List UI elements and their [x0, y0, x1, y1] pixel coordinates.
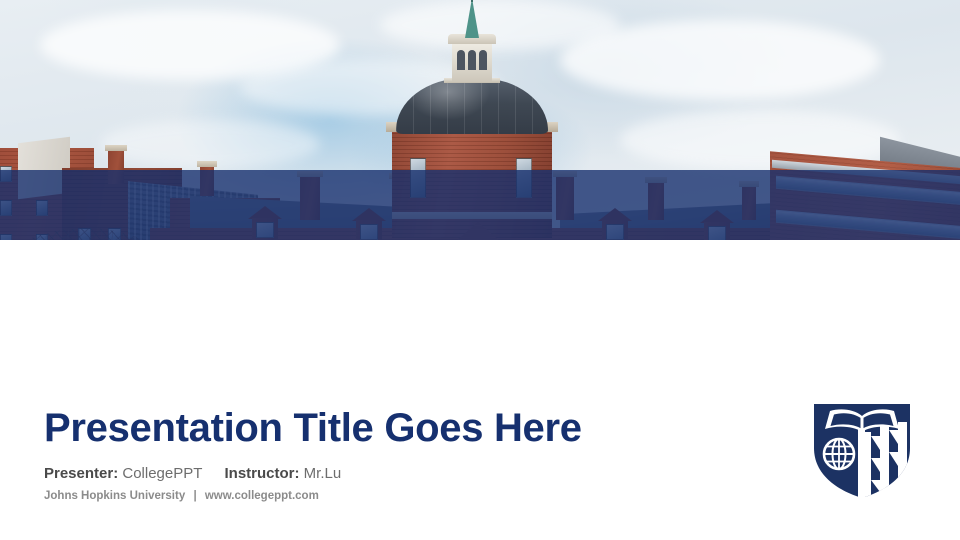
presenter-label: Presenter: [44, 465, 118, 482]
shield-pale [858, 426, 865, 500]
shield-icon [806, 392, 918, 504]
johns-hopkins-shield-logo [806, 392, 918, 504]
maryland-pattern [862, 422, 907, 502]
title-text-block: Presentation Title Goes Here Presenter: … [44, 405, 744, 502]
credit-line: Johns Hopkins University | www.collegepp… [44, 490, 744, 502]
presenter-name: CollegePPT [122, 465, 202, 482]
chimney [300, 176, 320, 220]
university-name: Johns Hopkins University [44, 490, 185, 502]
presenter-instructor-line: Presenter: CollegePPT Instructor: Mr.Lu [44, 465, 744, 482]
spire-finial [471, 0, 473, 2]
chimney [648, 182, 664, 220]
globe-icon [824, 439, 854, 469]
cloud-wisp [380, 0, 620, 50]
green-spire [465, 0, 479, 38]
chimney [108, 150, 124, 184]
cupola-lantern [452, 42, 492, 82]
dormer-window [352, 208, 386, 242]
dormer-window [598, 208, 632, 242]
website-url[interactable]: www.collegeppt.com [205, 490, 319, 502]
instructor-name: Mr.Lu [304, 465, 342, 482]
instructor-label: Instructor: [225, 465, 300, 482]
page-title: Presentation Title Goes Here [44, 405, 744, 451]
chimney [742, 186, 756, 220]
dormer-window [700, 210, 734, 244]
presentation-slide: Presentation Title Goes Here Presenter: … [0, 0, 960, 540]
dormer-window [248, 206, 282, 240]
credit-separator: | [188, 490, 201, 502]
chimney [556, 176, 574, 220]
chimney [200, 166, 214, 196]
